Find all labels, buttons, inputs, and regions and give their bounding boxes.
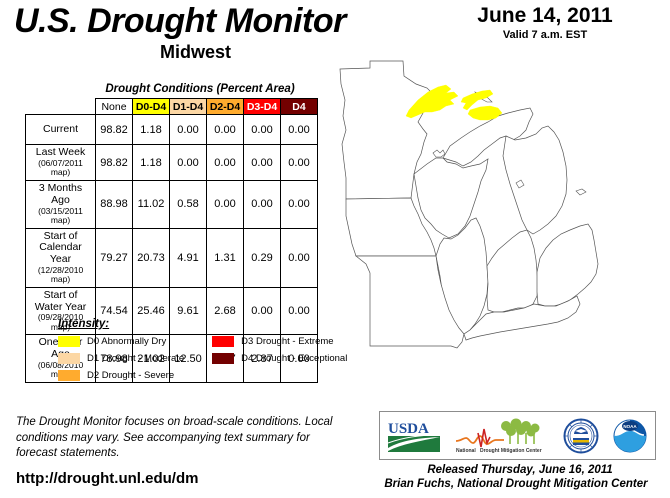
table-cell: 0.00 (281, 145, 318, 181)
legend-color-swatch (58, 336, 80, 347)
legend-color-swatch (212, 353, 234, 364)
noaa-logo: NOAA (611, 416, 649, 456)
table-header: NoneD0-D4D1-D4D2-D4D3-D4D4 (26, 99, 318, 115)
table-col-header-none: None (96, 99, 133, 115)
table-cell: 0.00 (244, 115, 281, 145)
legend-item: D3 Drought - Extreme (212, 336, 347, 347)
partner-logos-box: USDA National Drought Mitigation Center (379, 411, 656, 460)
table-corner-cell (26, 99, 96, 115)
table-row-label: Last Week(06/07/2011 map) (26, 145, 96, 181)
released-date: Released Thursday, June 16, 2011 (376, 464, 664, 476)
table-col-header-d3-d4: D3-D4 (244, 99, 281, 115)
table-cell: 0.00 (244, 145, 281, 181)
legend-title: Intensity: (58, 318, 347, 330)
table-cell: 0.29 (244, 228, 281, 287)
table-cell: 0.00 (170, 145, 207, 181)
table-col-header-d4: D4 (281, 99, 318, 115)
legend-item-label: D2 Drought - Severe (87, 370, 174, 381)
apostle-islands (433, 150, 445, 157)
disclaimer-text: The Drought Monitor focuses on broad-sca… (16, 415, 346, 462)
svg-text:NOAA: NOAA (623, 424, 637, 429)
usda-logo-svg: USDA (386, 418, 442, 454)
table-cell: 88.98 (96, 181, 133, 229)
table-cell: 11.02 (133, 181, 170, 229)
table-row-label: Current (26, 115, 96, 145)
legend-color-swatch (58, 353, 80, 364)
usda-seal-svg (563, 418, 599, 454)
table-cell: 1.18 (133, 145, 170, 181)
valid-time: Valid 7 a.m. EST (420, 29, 670, 41)
svg-text:USDA: USDA (388, 421, 429, 437)
usda-seal-logo (563, 416, 599, 456)
legend-column-right: D3 Drought - ExtremeD4 Drought - Excepti… (212, 336, 347, 381)
legend-color-swatch (212, 336, 234, 347)
table-header-row: NoneD0-D4D1-D4D2-D4D3-D4D4 (26, 99, 318, 115)
table-cell: 0.00 (207, 145, 244, 181)
noaa-logo-svg: NOAA (611, 418, 649, 454)
table-cell: 0.00 (244, 181, 281, 229)
table-row-sublabel: (03/15/2011 map) (29, 207, 92, 226)
region-subtitle: Midwest (160, 42, 231, 63)
table-row-label: Start ofCalendar Year(12/28/2010 map) (26, 228, 96, 287)
intensity-legend: Intensity: D0 Abnormally DryD1 Drought -… (58, 318, 347, 381)
table-row-sublabel: (12/28/2010 map) (29, 266, 92, 285)
table-cell: 98.82 (96, 115, 133, 145)
table-cell: 98.82 (96, 145, 133, 181)
state-indiana (487, 230, 538, 312)
state-ohio (537, 224, 598, 306)
table-cell: 1.31 (207, 228, 244, 287)
report-date: June 14, 2011 (420, 4, 670, 28)
legend-item-label: D1 Drought - Moderate (87, 353, 184, 364)
table-cell: 0.00 (281, 181, 318, 229)
legend-item-label: D0 Abnormally Dry (87, 336, 166, 347)
legend-item: D4 Drought - Exceptional (212, 353, 347, 364)
page-title: U.S. Drought Monitor (14, 2, 346, 41)
table-row: 3 Months Ago(03/15/2011 map)88.9811.020.… (26, 181, 318, 229)
table-row-label: 3 Months Ago(03/15/2011 map) (26, 181, 96, 229)
table-col-header-d2-d4: D2-D4 (207, 99, 244, 115)
table-row: Start ofCalendar Year(12/28/2010 map)79.… (26, 228, 318, 287)
map-svg (330, 58, 670, 408)
table-col-header-d0-d4: D0-D4 (133, 99, 170, 115)
svg-text:National: National (456, 448, 476, 454)
state-michigan-lp (503, 126, 567, 234)
legend-color-swatch (58, 370, 80, 381)
legend-item-label: D3 Drought - Extreme (241, 336, 333, 347)
table-cell: 0.58 (170, 181, 207, 229)
table-caption: Drought Conditions (Percent Area) (95, 83, 305, 95)
table-cell: 0.00 (281, 115, 318, 145)
legend-item: D0 Abnormally Dry (58, 336, 184, 347)
midwest-drought-map[interactable] (330, 58, 670, 408)
lake-erie-islands (576, 189, 586, 195)
legend-item: D1 Drought - Moderate (58, 353, 184, 364)
table-cell: 20.73 (133, 228, 170, 287)
usda-logo: USDA (386, 416, 442, 456)
table-row-sublabel: (06/07/2011 map) (29, 159, 92, 178)
svg-text:Drought Mitigation Center: Drought Mitigation Center (480, 448, 542, 454)
table-cell: 79.27 (96, 228, 133, 287)
table-row: Last Week(06/07/2011 map)98.821.180.000.… (26, 145, 318, 181)
table-cell: 0.00 (170, 115, 207, 145)
author-credit: Brian Fuchs, National Drought Mitigation… (366, 478, 666, 490)
table-cell: 0.00 (207, 115, 244, 145)
table-row: Current98.821.180.000.000.000.00 (26, 115, 318, 145)
legend-item: D2 Drought - Severe (58, 370, 184, 381)
ndmc-logo: National Drought Mitigation Center (454, 416, 550, 456)
ndmc-logo-svg: National Drought Mitigation Center (454, 417, 550, 455)
table-col-header-d1-d4: D1-D4 (170, 99, 207, 115)
legend-column-left: D0 Abnormally DryD1 Drought - ModerateD2… (58, 336, 184, 381)
table-cell: 1.18 (133, 115, 170, 145)
table-cell: 4.91 (170, 228, 207, 287)
table-cell: 0.00 (281, 228, 318, 287)
site-url-link[interactable]: http://drought.unl.edu/dm (16, 470, 198, 487)
table-cell: 0.00 (207, 181, 244, 229)
